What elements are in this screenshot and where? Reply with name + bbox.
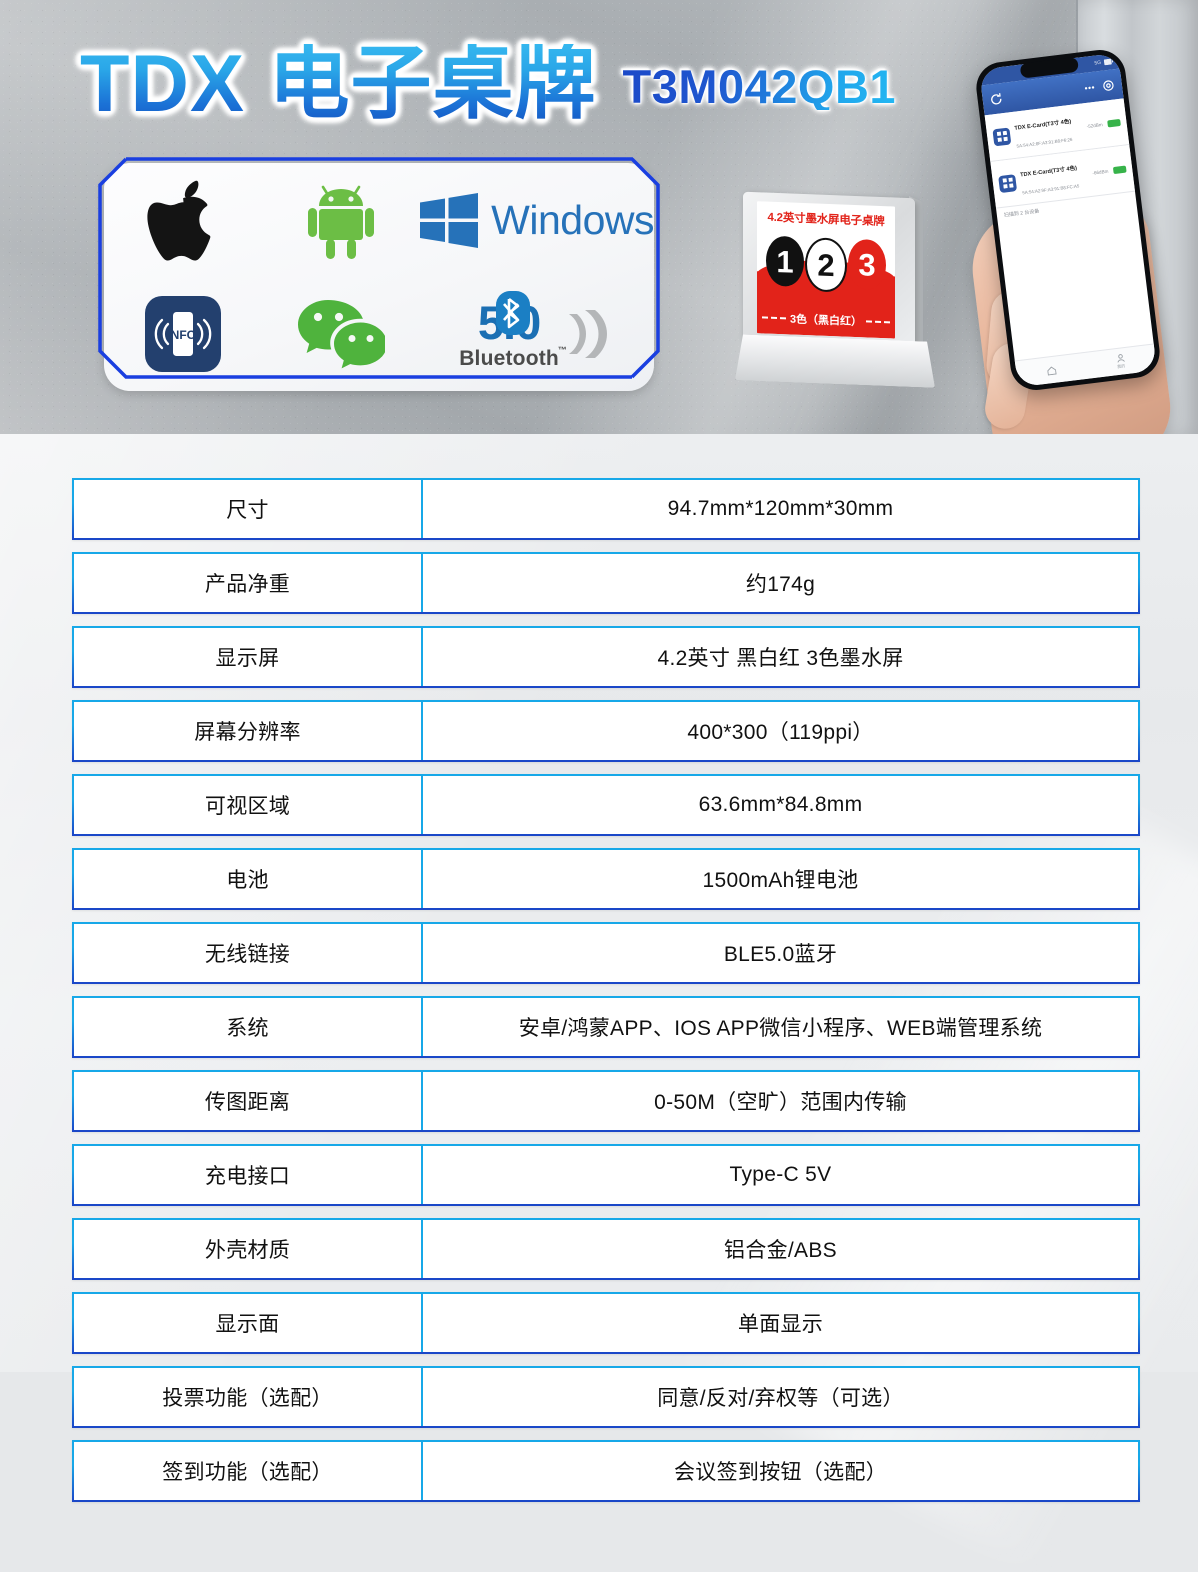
device-mockup: 4.2英寸墨水屏电子桌牌 1 2 3 3色（黑白红） xyxy=(735,195,935,385)
device-battery-badge xyxy=(1113,165,1127,174)
device-mac: 5A:54:A2:9F:A3:91:B8:FC:A5 xyxy=(1022,183,1080,195)
app-bar-actions[interactable] xyxy=(1082,78,1115,95)
spec-value: 400*300（119ppi） xyxy=(423,702,1138,760)
list-item-meta: TDX E-Card(T3寸 4色) 5A:54:A2:8F:A3:91:B8:… xyxy=(1013,109,1084,153)
tab-profile[interactable]: 我的 xyxy=(1115,353,1126,370)
model-number: T3M042QB1 xyxy=(623,63,897,110)
dash-right xyxy=(866,320,890,323)
bluetooth-label: Bluetooth™ xyxy=(459,348,559,369)
table-row: 屏幕分辨率400*300（119ppi） xyxy=(72,700,1140,762)
device-number-2: 2 xyxy=(805,237,847,293)
spec-value: 约174g xyxy=(423,554,1138,612)
table-row: 产品净重约174g xyxy=(72,552,1140,614)
table-row: 尺寸94.7mm*120mm*30mm xyxy=(72,478,1140,540)
windows-label: Windows xyxy=(491,197,654,244)
spec-key: 投票功能（选配） xyxy=(74,1368,423,1426)
device-screen-footer: 3色（黑白红） xyxy=(790,310,862,329)
device-number-1: 1 xyxy=(766,236,804,287)
spec-value: 4.2英寸 黑白红 3色墨水屏 xyxy=(423,628,1138,686)
table-row: 显示面单面显示 xyxy=(72,1292,1140,1354)
spec-value: Type-C 5V xyxy=(423,1146,1138,1204)
spec-key: 系统 xyxy=(74,998,423,1056)
hero-banner: TDX 电子桌牌 T3M042QB1 xyxy=(0,0,1198,434)
device-rssi: -52dBm xyxy=(1086,122,1103,129)
bluetooth-rune-icon xyxy=(496,291,530,335)
table-row: 系统安卓/鸿蒙APP、IOS APP微信小程序、WEB端管理系统 xyxy=(72,996,1140,1058)
spec-key: 电池 xyxy=(74,850,423,908)
refresh-icon[interactable] xyxy=(989,92,1003,106)
nfc-icon: NFC xyxy=(145,296,221,372)
spec-value: 63.6mm*84.8mm xyxy=(423,776,1138,834)
dash-left xyxy=(762,316,786,319)
bluetooth-waves-icon xyxy=(563,306,615,362)
page-title: TDX 电子桌牌 xyxy=(80,44,597,125)
spec-key: 充电接口 xyxy=(74,1146,423,1204)
device-rssi: -66dBm xyxy=(1092,168,1109,175)
android-icon xyxy=(308,181,374,259)
home-icon xyxy=(1046,365,1056,375)
spec-key: 尺寸 xyxy=(74,480,423,538)
product-spec-page: TDX 电子桌牌 T3M042QB1 xyxy=(0,0,1198,1372)
status-signal-label: 5G xyxy=(1094,60,1101,67)
spec-key: 传图距离 xyxy=(74,1072,423,1130)
device-stand xyxy=(735,334,935,388)
table-row: 可视区域63.6mm*84.8mm xyxy=(72,774,1140,836)
spec-key: 无线链接 xyxy=(74,924,423,982)
compatibility-card: Windows NFC xyxy=(96,155,662,395)
headline: TDX 电子桌牌 T3M042QB1 xyxy=(80,44,896,125)
spec-value: 会议签到按钮（选配） xyxy=(423,1442,1138,1500)
more-icon[interactable] xyxy=(1082,80,1096,94)
spec-value: 94.7mm*120mm*30mm xyxy=(423,480,1138,538)
spec-value: 0-50M（空旷）范围内传输 xyxy=(423,1072,1138,1130)
device-name: TDX E-Card(T3寸 4色) xyxy=(1014,119,1071,132)
spec-value: 1500mAh锂电池 xyxy=(423,850,1138,908)
table-row: 投票功能（选配）同意/反对/弃权等（可选） xyxy=(72,1366,1140,1428)
bluetooth-logo: 5.0 Bluetooth™ xyxy=(459,299,615,369)
phone-in-hand: 5G xyxy=(975,55,1175,434)
wechat-icon xyxy=(297,298,385,370)
spec-key: 签到功能（选配） xyxy=(74,1442,423,1500)
table-row: 传图距离0-50M（空旷）范围内传输 xyxy=(72,1070,1140,1132)
spec-key: 产品净重 xyxy=(74,554,423,612)
spec-key: 屏幕分辨率 xyxy=(74,702,423,760)
spec-key: 可视区域 xyxy=(74,776,423,834)
device-frame: 4.2英寸墨水屏电子桌牌 1 2 3 3色（黑白红） xyxy=(743,192,915,349)
spec-value: 同意/反对/弃权等（可选） xyxy=(423,1368,1138,1426)
table-row: 签到功能（选配）会议签到按钮（选配） xyxy=(72,1440,1140,1502)
nfc-badge: NFC xyxy=(145,296,221,372)
battery-icon xyxy=(1104,58,1114,65)
tab-profile-label: 我的 xyxy=(1117,363,1126,370)
device-name: TDX E-Card(T3寸 4色) xyxy=(1020,166,1077,179)
tab-home[interactable] xyxy=(1046,365,1056,375)
table-row: 无线链接BLE5.0蓝牙 xyxy=(72,922,1140,984)
person-icon xyxy=(1115,353,1125,363)
device-battery-badge xyxy=(1107,118,1121,127)
spec-value: BLE5.0蓝牙 xyxy=(423,924,1138,982)
spec-value: 安卓/鸿蒙APP、IOS APP微信小程序、WEB端管理系统 xyxy=(423,998,1138,1056)
list-item-meta: TDX E-Card(T3寸 4色) 5A:54:A2:9F:A3:91:B8:… xyxy=(1019,155,1090,199)
table-row: 显示屏4.2英寸 黑白红 3色墨水屏 xyxy=(72,626,1140,688)
spec-table: 尺寸94.7mm*120mm*30mm产品净重约174g显示屏4.2英寸 黑白红… xyxy=(72,478,1140,1514)
table-row: 外壳材质铝合金/ABS xyxy=(72,1218,1140,1280)
spec-key: 显示面 xyxy=(74,1294,423,1352)
device-tile-icon xyxy=(992,127,1011,146)
table-row: 电池1500mAh锂电池 xyxy=(72,848,1140,910)
device-tile-icon xyxy=(998,174,1017,193)
spec-value: 单面显示 xyxy=(423,1294,1138,1352)
device-screen: 4.2英寸墨水屏电子桌牌 1 2 3 3色（黑白红） xyxy=(757,201,895,338)
table-row: 充电接口Type-C 5V xyxy=(72,1144,1140,1206)
windows-icon xyxy=(420,193,478,248)
spec-key: 外壳材质 xyxy=(74,1220,423,1278)
svg-text:NFC: NFC xyxy=(171,328,196,342)
gear-icon[interactable] xyxy=(1101,78,1115,92)
device-screen-title: 4.2英寸墨水屏电子桌牌 xyxy=(757,208,895,229)
device-mac: 5A:54:A2:8F:A3:91:B8:F6:26 xyxy=(1016,137,1072,149)
spec-value: 铝合金/ABS xyxy=(423,1220,1138,1278)
windows-logo: Windows xyxy=(420,193,654,248)
spec-key: 显示屏 xyxy=(74,628,423,686)
device-screen-numbers: 1 2 3 xyxy=(757,235,895,294)
specs-section: 尺寸94.7mm*120mm*30mm产品净重约174g显示屏4.2英寸 黑白红… xyxy=(0,434,1198,1372)
apple-icon xyxy=(147,179,219,261)
device-number-3: 3 xyxy=(848,239,886,290)
compatibility-icon-grid: Windows NFC xyxy=(104,163,654,391)
